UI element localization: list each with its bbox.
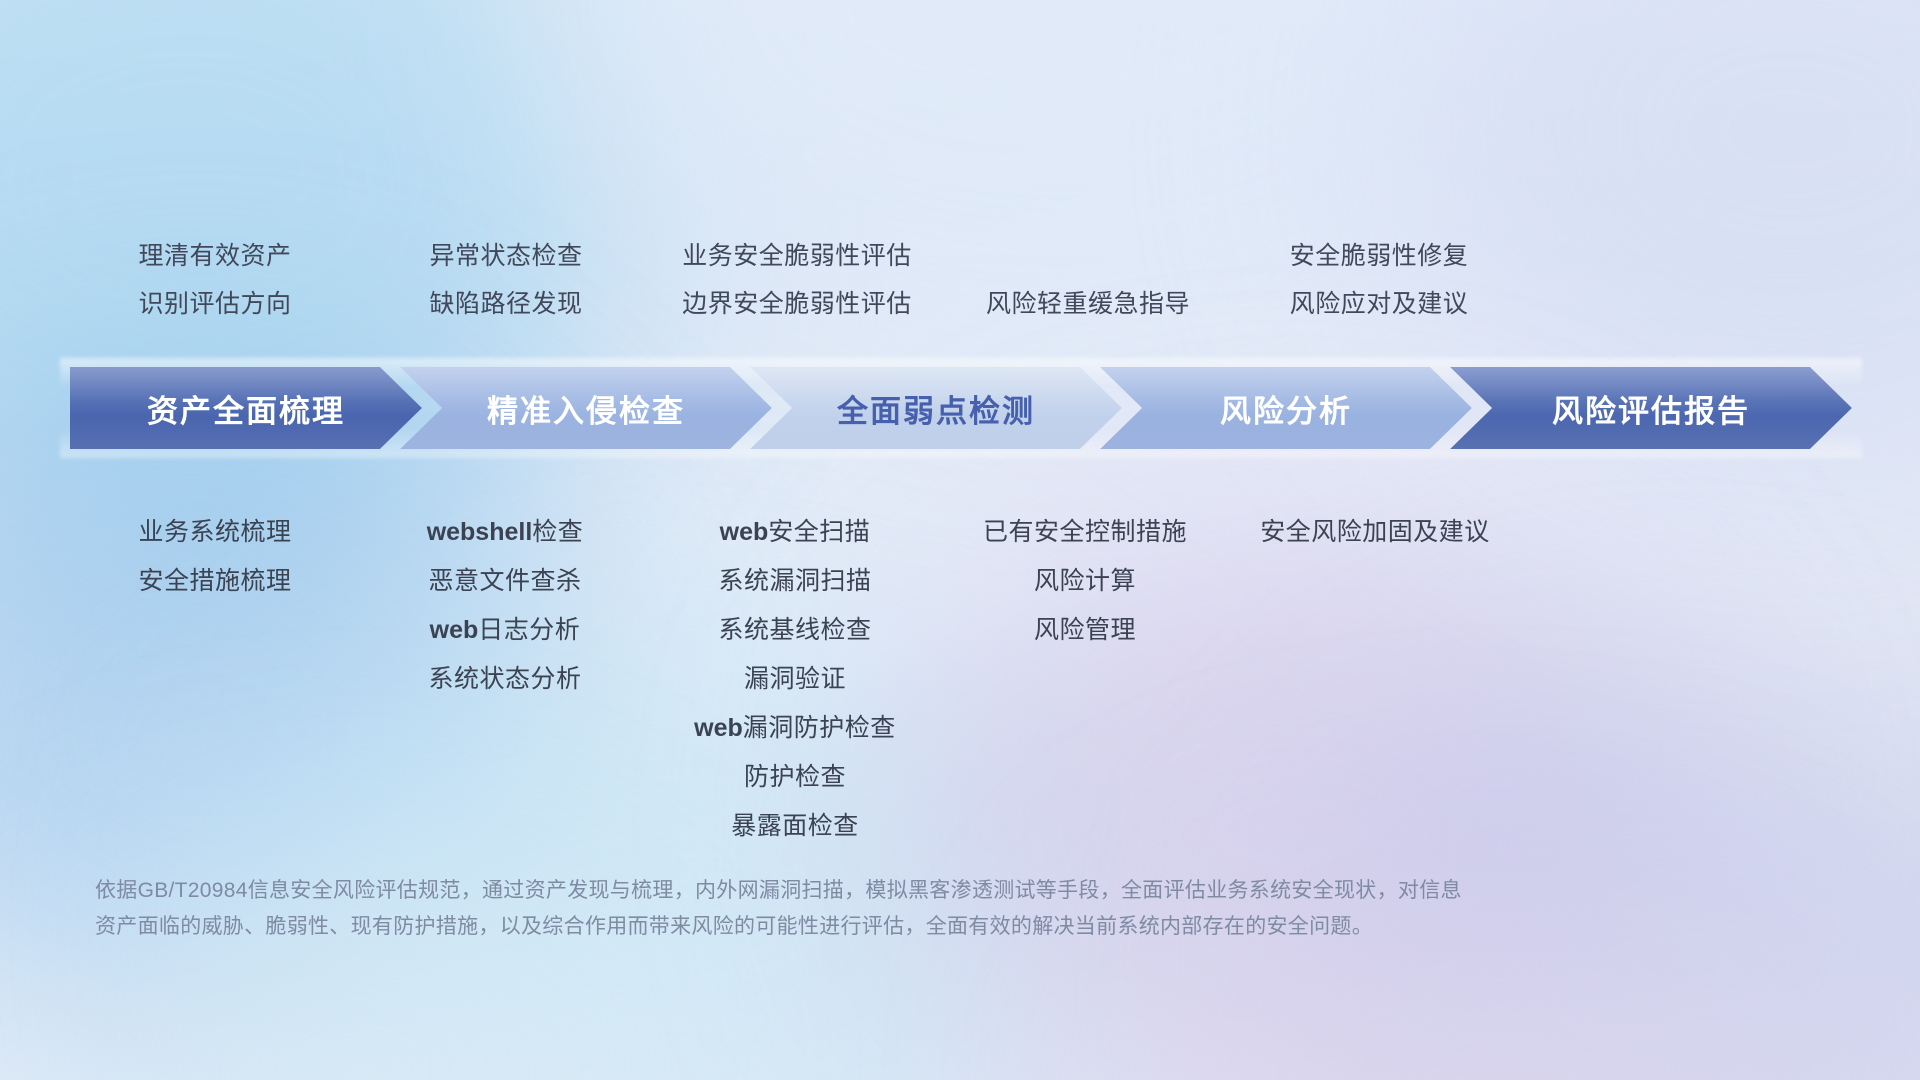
activity-item: web安全扫描 — [650, 508, 940, 557]
stage-arrow-label: 全面弱点检测 — [837, 386, 1035, 431]
outcome-text: 缺陷路径发现 — [361, 280, 651, 328]
activity-bold-prefix: web — [694, 714, 743, 742]
stage-activities-row: 业务系统梳理 安全措施梳理 webshell检查 恶意文件查杀 web日志分析 … — [70, 508, 1850, 851]
stage-activities-risk-analysis: 已有安全控制措施 风险计算 风险管理 — [940, 508, 1230, 655]
stage-arrow-label: 风险分析 — [1220, 386, 1352, 431]
activity-text: 风险管理 — [1034, 616, 1136, 644]
stage-arrow-label: 精准入侵检查 — [487, 386, 685, 431]
activity-text: 系统基线检查 — [718, 616, 871, 644]
activity-text: 防护检查 — [744, 763, 846, 791]
activity-item: 漏洞验证 — [650, 655, 940, 704]
activity-text: 安全风险加固及建议 — [1260, 518, 1490, 546]
stage-arrow-assessment-report[interactable]: 风险评估报告 — [1450, 367, 1852, 449]
activity-item: web漏洞防护检查 — [650, 704, 940, 753]
activity-item: web日志分析 — [360, 606, 650, 655]
outcome-text: 业务安全脆弱性评估 — [652, 232, 942, 280]
activity-text: 漏洞防护检查 — [743, 714, 896, 742]
activity-item: 已有安全控制措施 — [940, 508, 1230, 557]
activity-item: 恶意文件查杀 — [360, 557, 650, 606]
activity-text: 系统漏洞扫描 — [718, 567, 871, 595]
stage-outcomes-intrusion-check: 异常状态检查 缺陷路径发现 — [361, 232, 651, 328]
activity-bold-prefix: web — [430, 616, 479, 644]
stage-arrow-weakness-detection[interactable]: 全面弱点检测 — [750, 367, 1122, 449]
footer-line-1: 依据GB/T20984信息安全风险评估规范，通过资产发现与梳理，内外网漏洞扫描，… — [95, 873, 1655, 909]
stage-arrow-label: 风险评估报告 — [1552, 386, 1750, 431]
activity-text: 日志分析 — [478, 616, 580, 644]
outcome-text: 识别评估方向 — [70, 280, 360, 328]
stage-activities-weakness-detection: web安全扫描 系统漏洞扫描 系统基线检查 漏洞验证 web漏洞防护检查 防护检… — [650, 508, 940, 851]
stage-outcomes-risk-analysis: 风险轻重缓急指导 — [943, 232, 1233, 328]
activity-item: 系统漏洞扫描 — [650, 557, 940, 606]
activity-text: 漏洞验证 — [744, 665, 846, 693]
activity-item: webshell检查 — [360, 508, 650, 557]
stage-outcomes-assessment-report: 安全脆弱性修复 风险应对及建议 — [1234, 232, 1524, 328]
activity-item: 业务系统梳理 — [70, 508, 360, 557]
activity-text: 检查 — [532, 518, 583, 546]
outcome-text: 理清有效资产 — [70, 232, 360, 280]
outcome-text: 异常状态检查 — [361, 232, 651, 280]
activity-text: 恶意文件查杀 — [428, 567, 581, 595]
outcome-text: 边界安全脆弱性评估 — [652, 280, 942, 328]
activity-item: 系统基线检查 — [650, 606, 940, 655]
outcome-text: 安全脆弱性修复 — [1234, 232, 1524, 280]
stage-arrow-risk-analysis[interactable]: 风险分析 — [1100, 367, 1472, 449]
outcome-text: 风险轻重缓急指导 — [943, 280, 1233, 328]
stage-outcomes-row: 理清有效资产 识别评估方向 异常状态检查 缺陷路径发现 业务安全脆弱性评估 边界… — [70, 232, 1850, 328]
stage-activities-asset-inventory: 业务系统梳理 安全措施梳理 — [70, 508, 360, 606]
stage-outcomes-weakness-detection: 业务安全脆弱性评估 边界安全脆弱性评估 — [652, 232, 942, 328]
activity-bold-prefix: webshell — [427, 518, 533, 546]
activity-item: 暴露面检查 — [650, 802, 940, 851]
stage-activities-assessment-report: 安全风险加固及建议 — [1230, 508, 1520, 557]
process-arrow-band: 资产全面梳理 精准入侵检查 全面弱点检测 风险分析 风险评估报告 — [70, 367, 1852, 449]
activity-text: 安全措施梳理 — [138, 567, 291, 595]
stage-arrow-intrusion-check[interactable]: 精准入侵检查 — [400, 367, 772, 449]
outcome-text: 风险应对及建议 — [1234, 280, 1524, 328]
stage-arrow-asset-inventory[interactable]: 资产全面梳理 — [70, 367, 422, 449]
activity-bold-prefix: web — [720, 518, 769, 546]
activity-text: 风险计算 — [1034, 567, 1136, 595]
activity-text: 暴露面检查 — [731, 812, 859, 840]
activity-item: 防护检查 — [650, 753, 940, 802]
activity-text: 已有安全控制措施 — [983, 518, 1187, 546]
slide-canvas: 理清有效资产 识别评估方向 异常状态检查 缺陷路径发现 业务安全脆弱性评估 边界… — [0, 0, 1920, 1080]
activity-item: 风险计算 — [940, 557, 1230, 606]
activity-text: 业务系统梳理 — [138, 518, 291, 546]
activity-item: 安全措施梳理 — [70, 557, 360, 606]
activity-item: 系统状态分析 — [360, 655, 650, 704]
stage-outcomes-asset-inventory: 理清有效资产 识别评估方向 — [70, 232, 360, 328]
activity-text: 安全扫描 — [768, 518, 870, 546]
footer-description: 依据GB/T20984信息安全风险评估规范，通过资产发现与梳理，内外网漏洞扫描，… — [95, 873, 1655, 945]
stage-arrow-label: 资产全面梳理 — [147, 386, 345, 431]
stage-activities-intrusion-check: webshell检查 恶意文件查杀 web日志分析 系统状态分析 — [360, 508, 650, 704]
activity-item: 风险管理 — [940, 606, 1230, 655]
activity-item: 安全风险加固及建议 — [1230, 508, 1520, 557]
footer-line-2: 资产面临的威胁、脆弱性、现有防护措施，以及综合作用而带来风险的可能性进行评估，全… — [95, 909, 1655, 945]
activity-text: 系统状态分析 — [428, 665, 581, 693]
